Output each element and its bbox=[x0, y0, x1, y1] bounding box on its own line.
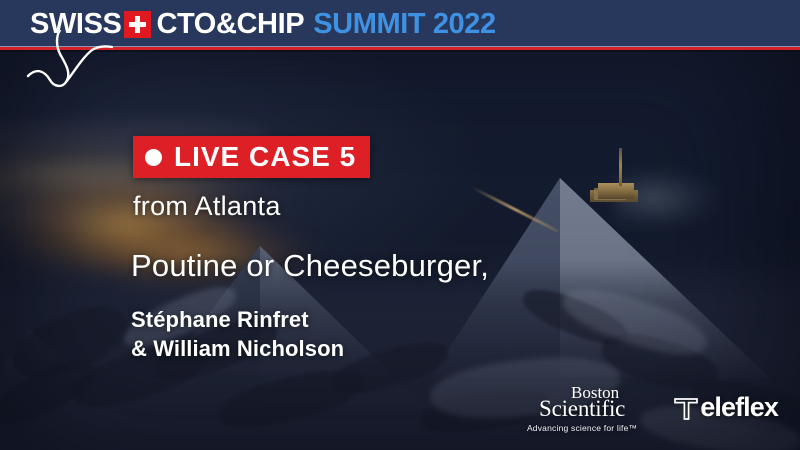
teleflex-t-icon bbox=[673, 395, 699, 421]
brand-cto-chip: CTO&CHIP bbox=[156, 10, 304, 39]
bsci-wordmark-line2: Scientific bbox=[527, 397, 637, 420]
session-title: Poutine or Cheeseburger, bbox=[131, 250, 489, 281]
boston-scientific-logo: Boston Scientific Advancing science for … bbox=[527, 384, 637, 433]
brand-swiss: SWISS bbox=[30, 10, 121, 39]
session-location: from Atlanta bbox=[133, 193, 281, 220]
brand-summit-year: SUMMIT 2022 bbox=[313, 10, 496, 39]
presenter-name-1: Stéphane Rinfret bbox=[131, 305, 344, 334]
teleflex-wordmark: eleflex bbox=[700, 394, 778, 421]
session-presenters: Stéphane Rinfret & William Nicholson bbox=[131, 305, 344, 363]
live-dot-icon bbox=[145, 149, 162, 166]
background-vignette bbox=[0, 0, 800, 450]
presenter-name-2: & William Nicholson bbox=[131, 334, 344, 363]
sponsor-logos: Boston Scientific Advancing science for … bbox=[527, 384, 778, 433]
background-photo bbox=[0, 0, 800, 450]
swiss-cross-icon bbox=[124, 11, 151, 38]
presentation-slide: SWISS CTO&CHIP SUMMIT 2022 LIVE CASE 5 f… bbox=[0, 0, 800, 450]
live-case-label: LIVE CASE 5 bbox=[174, 143, 356, 171]
teleflex-logo: eleflex bbox=[673, 394, 778, 421]
event-brand-lockup: SWISS CTO&CHIP SUMMIT 2022 bbox=[30, 6, 496, 42]
event-header-bar: SWISS CTO&CHIP SUMMIT 2022 bbox=[0, 0, 800, 50]
live-case-badge: LIVE CASE 5 bbox=[133, 136, 370, 178]
header-rule-shadow bbox=[0, 50, 800, 52]
bsci-tagline: Advancing science for life™ bbox=[527, 424, 637, 433]
